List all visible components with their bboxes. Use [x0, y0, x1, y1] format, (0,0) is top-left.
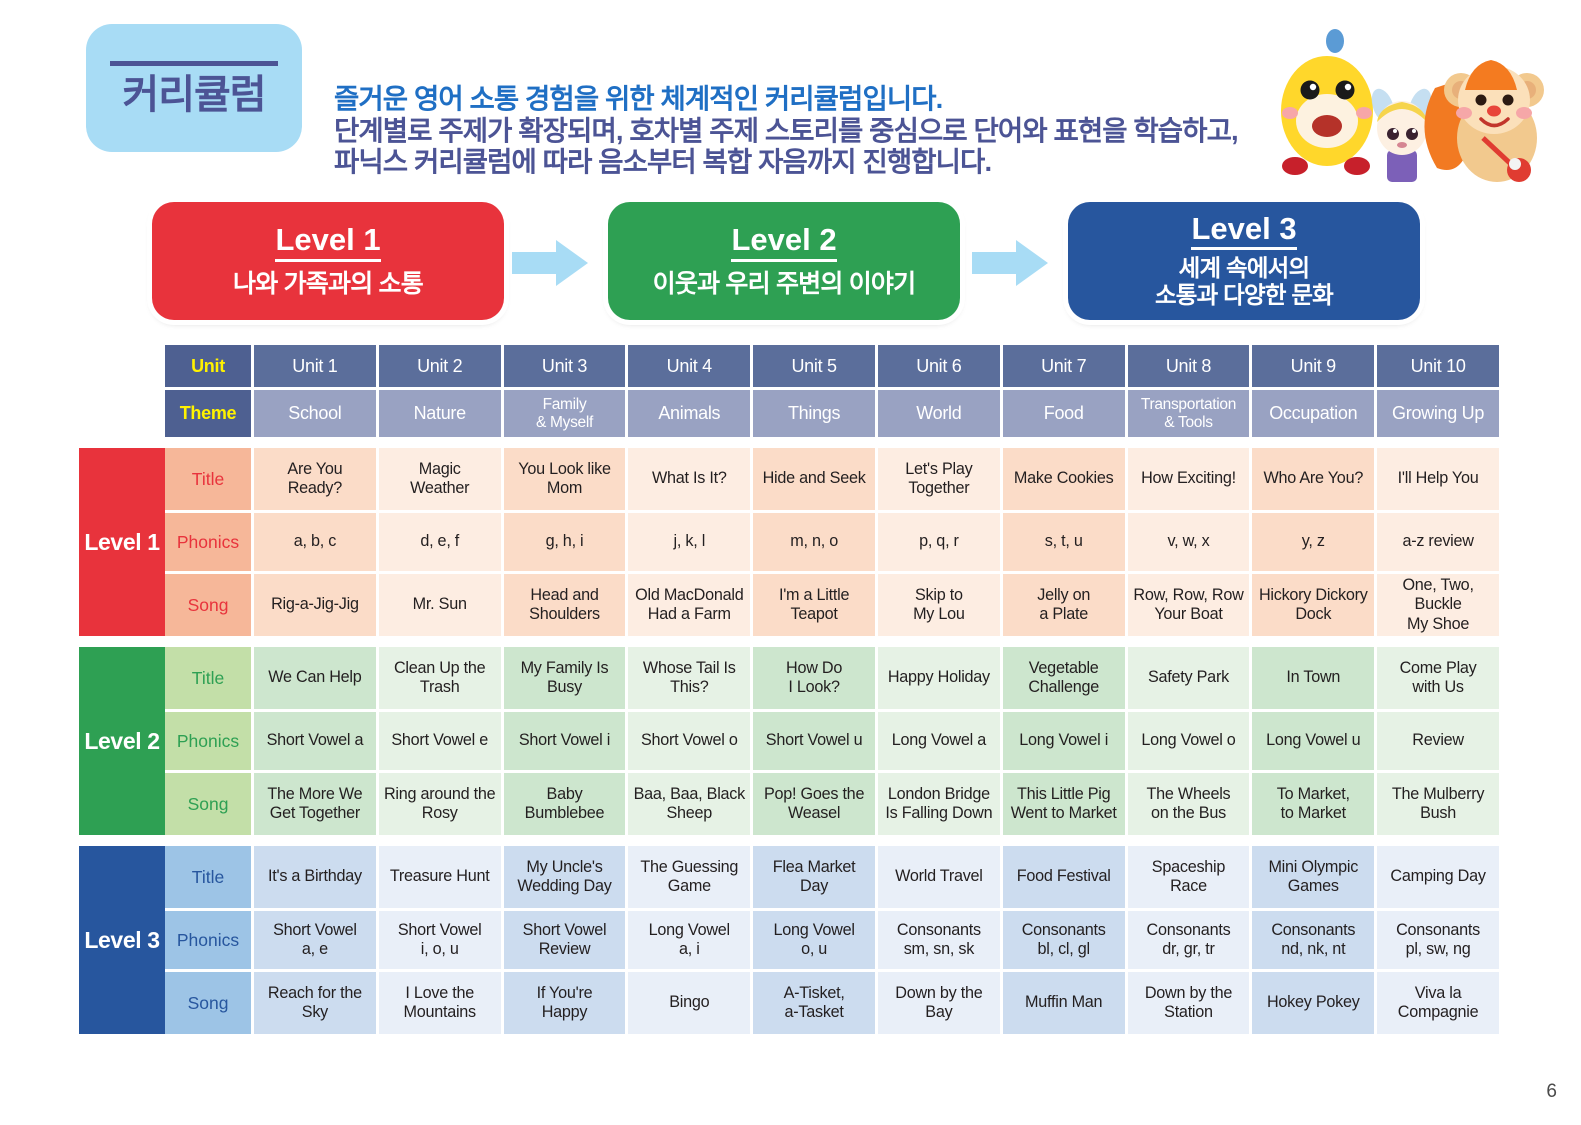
- table-row: PhonicsShort Vowela, eShort Voweli, o, u…: [165, 911, 1499, 969]
- cell-phonics: Short Voweli, o, u: [379, 911, 501, 969]
- cell-phonics: Short Vowel o: [628, 712, 750, 770]
- table-row: TitleIt's a BirthdayTreasure HuntMy Uncl…: [165, 846, 1499, 908]
- level-3-banner-title: Level 3: [1191, 213, 1296, 251]
- cell-title: Camping Day: [1377, 846, 1499, 908]
- cell-title: Treasure Hunt: [379, 846, 501, 908]
- unit-header-cell: Unit 6: [878, 345, 1000, 387]
- level-3-banner-subtitle-line-2: 소통과 다양한 문화: [1155, 282, 1333, 309]
- header-corner-theme: Theme: [165, 390, 251, 437]
- unit-header-cell: Unit 4: [628, 345, 750, 387]
- cell-phonics: Long Vowela, i: [628, 911, 750, 969]
- level-3-block: Level 3TitleIt's a BirthdayTreasure Hunt…: [79, 846, 1484, 1034]
- row-label-song: Song: [165, 972, 251, 1034]
- cell-song: Row, Row, RowYour Boat: [1128, 574, 1250, 636]
- cell-phonics: j, k, l: [628, 513, 750, 571]
- row-label-title: Title: [165, 448, 251, 510]
- cell-title: Clean Up theTrash: [379, 647, 501, 709]
- intro-line-3: 파닉스 커리큘럼에 따라 음소부터 복합 자음까지 진행합니다.: [334, 146, 1284, 178]
- cell-song: Rig-a-Jig-Jig: [254, 574, 376, 636]
- cell-title: Safety Park: [1128, 647, 1250, 709]
- cell-phonics: Consonantspl, sw, ng: [1377, 911, 1499, 969]
- level-3-tab: Level 3: [79, 846, 165, 1034]
- theme-header-cell: Things: [753, 390, 875, 437]
- cell-phonics: Consonantssm, sn, sk: [878, 911, 1000, 969]
- cell-title: Happy Holiday: [878, 647, 1000, 709]
- cell-phonics: Consonantsdr, gr, tr: [1128, 911, 1250, 969]
- cell-song: Mr. Sun: [379, 574, 501, 636]
- cell-song: Hickory DickoryDock: [1252, 574, 1374, 636]
- theme-header-cell: Nature: [379, 390, 501, 437]
- cell-title: MagicWeather: [379, 448, 501, 510]
- cell-title: Let's PlayTogether: [878, 448, 1000, 510]
- cell-title: Who Are You?: [1252, 448, 1374, 510]
- cell-song: Head andShoulders: [504, 574, 626, 636]
- badge-rule: [110, 61, 278, 66]
- table-row: SongThe More WeGet TogetherRing around t…: [165, 773, 1499, 835]
- cell-phonics: d, e, f: [379, 513, 501, 571]
- theme-header-row: Theme SchoolNatureFamily& MyselfAnimalsT…: [165, 390, 1484, 437]
- level-2-banner-title: Level 2: [731, 224, 836, 262]
- arrow-right-icon-2: [972, 240, 1048, 286]
- level-3-banner[interactable]: Level 3 세계 속에서의 소통과 다양한 문화: [1068, 202, 1420, 320]
- cell-song: London BridgeIs Falling Down: [878, 773, 1000, 835]
- theme-header-cell: Family& Myself: [504, 390, 626, 437]
- unit-header-cell: Unit 5: [753, 345, 875, 387]
- cell-phonics: g, h, i: [504, 513, 626, 571]
- row-label-song: Song: [165, 574, 251, 636]
- unit-header-cell: Unit 2: [379, 345, 501, 387]
- cell-song: I Love theMountains: [379, 972, 501, 1034]
- cell-phonics: Long Vowelo, u: [753, 911, 875, 969]
- table-row: SongRig-a-Jig-JigMr. SunHead andShoulder…: [165, 574, 1499, 636]
- unit-header-cell: Unit 3: [504, 345, 626, 387]
- theme-header-cell: Transportation& Tools: [1128, 390, 1250, 437]
- cell-song: To Market,to Market: [1252, 773, 1374, 835]
- level-1-banner-title: Level 1: [275, 224, 380, 262]
- cell-song: I'm a LittleTeapot: [753, 574, 875, 636]
- cell-phonics: Short Vowel u: [753, 712, 875, 770]
- cell-title: My Family IsBusy: [504, 647, 626, 709]
- cell-phonics: Short Vowel a: [254, 712, 376, 770]
- row-label-phonics: Phonics: [165, 911, 251, 969]
- cell-title: Come Playwith Us: [1377, 647, 1499, 709]
- cell-title: Food Festival: [1003, 846, 1125, 908]
- unit-header-cell: Unit 10: [1377, 345, 1499, 387]
- level-3-banner-subtitle-line-1: 세계 속에서의: [1179, 255, 1310, 282]
- level-1-banner-subtitle: 나와 가족과의 소통: [233, 270, 423, 298]
- cell-song: Hokey Pokey: [1252, 972, 1374, 1034]
- cell-phonics: Short Vowel i: [504, 712, 626, 770]
- cell-song: Ring around theRosy: [379, 773, 501, 835]
- row-label-phonics: Phonics: [165, 712, 251, 770]
- cell-phonics: Review: [1377, 712, 1499, 770]
- cell-title: Whose Tail IsThis?: [628, 647, 750, 709]
- cell-song: Pop! Goes theWeasel: [753, 773, 875, 835]
- unit-header-cell: Unit 1: [254, 345, 376, 387]
- orange-squirrel-mascot: [1424, 60, 1544, 182]
- cell-phonics: a-z review: [1377, 513, 1499, 571]
- intro-line-1: 즐거운 영어 소통 경험을 위한 체계적인 커리큘럼입니다.: [334, 83, 1284, 115]
- badge-label: 커리큘럼: [122, 75, 265, 115]
- cell-title: We Can Help: [254, 647, 376, 709]
- cell-phonics: Long Vowel o: [1128, 712, 1250, 770]
- cell-title: In Town: [1252, 647, 1374, 709]
- theme-header-cell: Animals: [628, 390, 750, 437]
- cell-song: Viva laCompagnie: [1377, 972, 1499, 1034]
- cell-song: This Little PigWent to Market: [1003, 773, 1125, 835]
- row-label-title: Title: [165, 846, 251, 908]
- cell-title: How DoI Look?: [753, 647, 875, 709]
- cell-title: My Uncle'sWedding Day: [504, 846, 626, 908]
- cell-title: You Look likeMom: [504, 448, 626, 510]
- page-number: 6: [1546, 1081, 1557, 1103]
- cell-phonics: Long Vowel i: [1003, 712, 1125, 770]
- row-label-title: Title: [165, 647, 251, 709]
- yellow-dog-mascot: [1281, 29, 1373, 175]
- cell-title: It's a Birthday: [254, 846, 376, 908]
- cell-title: What Is It?: [628, 448, 750, 510]
- level-2-rows: TitleWe Can HelpClean Up theTrashMy Fami…: [165, 647, 1499, 835]
- theme-header-cell: Growing Up: [1377, 390, 1499, 437]
- cell-title: The GuessingGame: [628, 846, 750, 908]
- unit-header-cell: Unit 9: [1252, 345, 1374, 387]
- cell-title: World Travel: [878, 846, 1000, 908]
- theme-header-cell: School: [254, 390, 376, 437]
- cell-song: The More WeGet Together: [254, 773, 376, 835]
- level-1-tab: Level 1: [79, 448, 165, 636]
- curriculum-table: Unit Unit 1Unit 2Unit 3Unit 4Unit 5Unit …: [79, 345, 1484, 1034]
- cell-phonics: Long Vowel u: [1252, 712, 1374, 770]
- header-corner-unit: Unit: [165, 345, 251, 387]
- cell-title: Hide and Seek: [753, 448, 875, 510]
- cell-title: Are YouReady?: [254, 448, 376, 510]
- cell-song: Reach for theSky: [254, 972, 376, 1034]
- cell-phonics: Consonantsnd, nk, nt: [1252, 911, 1374, 969]
- level-1-rows: TitleAre YouReady?MagicWeatherYou Look l…: [165, 448, 1499, 636]
- cell-title: Flea MarketDay: [753, 846, 875, 908]
- level-2-banner[interactable]: Level 2 이웃과 우리 주변의 이야기: [608, 202, 960, 320]
- cell-title: Mini OlympicGames: [1252, 846, 1374, 908]
- cell-phonics: Long Vowel a: [878, 712, 1000, 770]
- table-header-block: Unit Unit 1Unit 2Unit 3Unit 4Unit 5Unit …: [165, 345, 1484, 437]
- cell-phonics: v, w, x: [1128, 513, 1250, 571]
- intro-text: 즐거운 영어 소통 경험을 위한 체계적인 커리큘럼입니다. 단계별로 주제가 …: [334, 83, 1284, 178]
- cell-song: Old MacDonaldHad a Farm: [628, 574, 750, 636]
- unit-header-row: Unit Unit 1Unit 2Unit 3Unit 4Unit 5Unit …: [165, 345, 1484, 387]
- cell-phonics: Short VowelReview: [504, 911, 626, 969]
- cell-song: Down by theStation: [1128, 972, 1250, 1034]
- theme-header-cell: World: [878, 390, 1000, 437]
- theme-header-cell: Food: [1003, 390, 1125, 437]
- cell-song: If You'reHappy: [504, 972, 626, 1034]
- row-label-phonics: Phonics: [165, 513, 251, 571]
- cell-song: The Wheelson the Bus: [1128, 773, 1250, 835]
- cell-title: Make Cookies: [1003, 448, 1125, 510]
- cell-title: I'll Help You: [1377, 448, 1499, 510]
- table-row: TitleWe Can HelpClean Up theTrashMy Fami…: [165, 647, 1499, 709]
- arrow-right-icon-1: [512, 240, 588, 286]
- level-2-block: Level 2TitleWe Can HelpClean Up theTrash…: [79, 647, 1484, 835]
- row-label-song: Song: [165, 773, 251, 835]
- cell-title: SpaceshipRace: [1128, 846, 1250, 908]
- cell-song: Bingo: [628, 972, 750, 1034]
- cell-title: VegetableChallenge: [1003, 647, 1125, 709]
- mascot-characters-illustration: [1265, 18, 1565, 193]
- cell-phonics: y, z: [1252, 513, 1374, 571]
- cell-song: Muffin Man: [1003, 972, 1125, 1034]
- table-row: Phonicsa, b, cd, e, fg, h, ij, k, lm, n,…: [165, 513, 1499, 571]
- cell-phonics: Consonantsbl, cl, gl: [1003, 911, 1125, 969]
- cell-title: How Exciting!: [1128, 448, 1250, 510]
- level-1-block: Level 1TitleAre YouReady?MagicWeatherYou…: [79, 448, 1484, 636]
- cell-phonics: s, t, u: [1003, 513, 1125, 571]
- cell-phonics: a, b, c: [254, 513, 376, 571]
- level-banner-row: Level 1 나와 가족과의 소통 Level 2 이웃과 우리 주변의 이야…: [0, 196, 1581, 336]
- cell-phonics: m, n, o: [753, 513, 875, 571]
- cell-song: Jelly ona Plate: [1003, 574, 1125, 636]
- table-row: SongReach for theSkyI Love theMountainsI…: [165, 972, 1499, 1034]
- unit-header-cell: Unit 7: [1003, 345, 1125, 387]
- cell-song: Baa, Baa, BlackSheep: [628, 773, 750, 835]
- curriculum-badge: 커리큘럼: [86, 24, 302, 152]
- cell-phonics: p, q, r: [878, 513, 1000, 571]
- level-2-tab: Level 2: [79, 647, 165, 835]
- unit-header-cell: Unit 8: [1128, 345, 1250, 387]
- cell-song: A-Tisket,a-Tasket: [753, 972, 875, 1034]
- theme-header-cell: Occupation: [1252, 390, 1374, 437]
- cell-song: BabyBumblebee: [504, 773, 626, 835]
- table-row: TitleAre YouReady?MagicWeatherYou Look l…: [165, 448, 1499, 510]
- table-row: PhonicsShort Vowel aShort Vowel eShort V…: [165, 712, 1499, 770]
- cell-song: The MulberryBush: [1377, 773, 1499, 835]
- intro-line-2: 단계별로 주제가 확장되며, 호차별 주제 스토리를 중심으로 단어와 표현을 …: [334, 115, 1284, 147]
- cell-phonics: Short Vowel e: [379, 712, 501, 770]
- cell-song: One, Two, BuckleMy Shoe: [1377, 574, 1499, 636]
- cell-phonics: Short Vowela, e: [254, 911, 376, 969]
- level-1-banner[interactable]: Level 1 나와 가족과의 소통: [152, 202, 504, 320]
- page-header: 커리큘럼 즐거운 영어 소통 경험을 위한 체계적인 커리큘럼입니다. 단계별로…: [0, 0, 1581, 195]
- cell-song: Down by theBay: [878, 972, 1000, 1034]
- level-2-banner-subtitle: 이웃과 우리 주변의 이야기: [653, 270, 916, 298]
- cell-song: Skip toMy Lou: [878, 574, 1000, 636]
- level-3-rows: TitleIt's a BirthdayTreasure HuntMy Uncl…: [165, 846, 1499, 1034]
